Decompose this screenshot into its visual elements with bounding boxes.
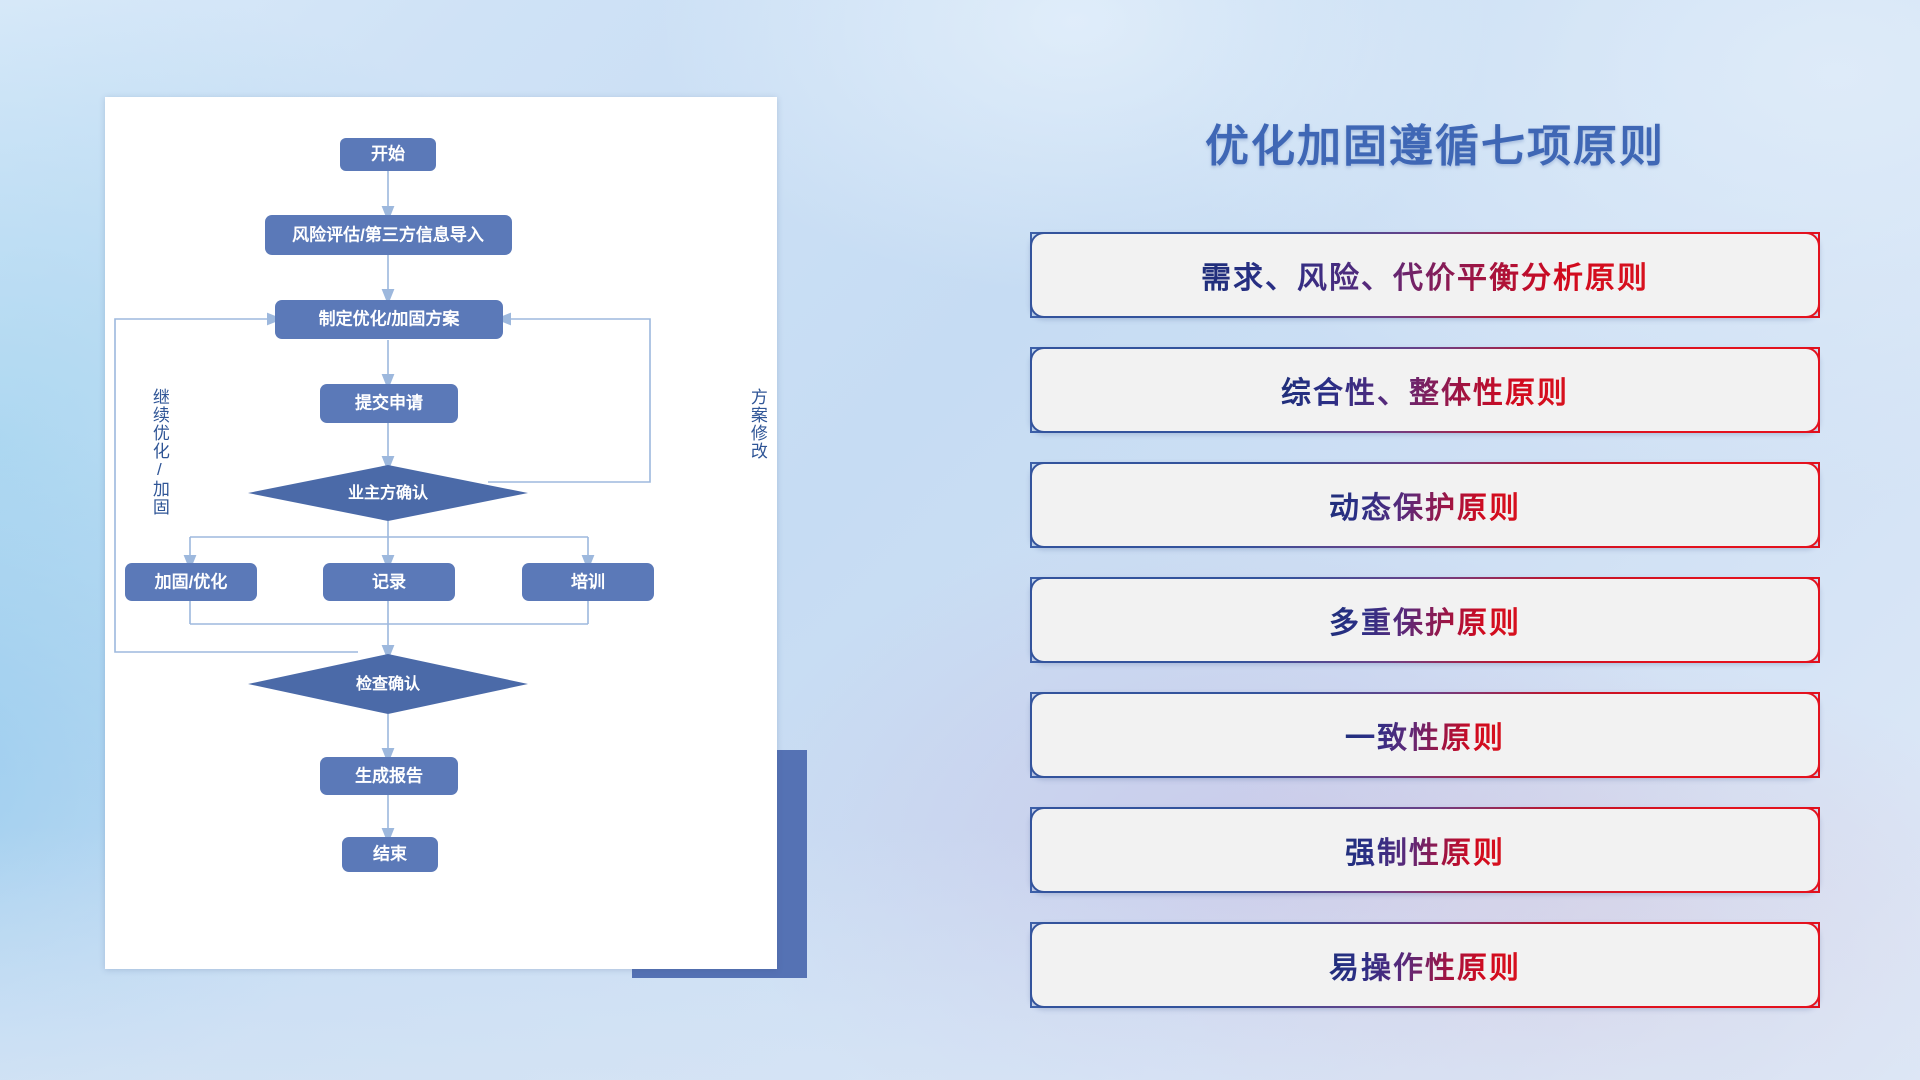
principle-card-label: 多重保护原则 — [1329, 598, 1521, 642]
flow-node-training-label: 培训 — [571, 571, 605, 591]
principle-card-label: 易操作性原则 — [1329, 943, 1521, 987]
principle-card-label: 一致性原则 — [1345, 713, 1505, 757]
principle-card-label: 需求、风险、代价平衡分析原则 — [1201, 253, 1649, 297]
flow-node-reinforce-optimize[interactable]: 加固/优化 — [125, 563, 257, 601]
flow-node-training[interactable]: 培训 — [522, 563, 654, 601]
principle-card[interactable]: 多重保护原则 — [1030, 577, 1820, 663]
principles-section: 优化加固遵循七项原则 需求、风险、代价平衡分析原则 综合性、整体性原则 动态保护… — [1020, 0, 1850, 1080]
principle-card-list: 需求、风险、代价平衡分析原则 综合性、整体性原则 动态保护原则 多重保护原则 一… — [1030, 232, 1820, 1037]
flowchart-diagram: 开始 风险评估/第三方信息导入 制定优化/加固方案 提交申请 业主方确认 加固/… — [105, 97, 777, 969]
flow-node-end[interactable]: 结束 — [342, 837, 438, 872]
flow-node-start-label: 开始 — [371, 143, 405, 163]
flow-node-inspection-confirm-label: 检查确认 — [356, 674, 421, 693]
flow-node-start[interactable]: 开始 — [340, 138, 436, 171]
principle-card[interactable]: 动态保护原则 — [1030, 462, 1820, 548]
flow-node-submit-application[interactable]: 提交申请 — [320, 384, 458, 423]
flow-edge-label-right-loop: 方案修改 — [748, 388, 766, 460]
flow-node-owner-confirm-label: 业主方确认 — [348, 483, 429, 502]
flow-node-make-plan-label: 制定优化/加固方案 — [319, 308, 461, 328]
flow-node-end-label: 结束 — [373, 843, 407, 863]
principle-card-label: 强制性原则 — [1345, 828, 1505, 872]
flow-node-submit-application-label: 提交申请 — [355, 392, 423, 412]
principle-card[interactable]: 易操作性原则 — [1030, 922, 1820, 1008]
principle-card[interactable]: 需求、风险、代价平衡分析原则 — [1030, 232, 1820, 318]
flow-node-reinforce-optimize-label: 加固/优化 — [154, 571, 228, 591]
principle-card[interactable]: 强制性原则 — [1030, 807, 1820, 893]
flowchart-panel: 开始 风险评估/第三方信息导入 制定优化/加固方案 提交申请 业主方确认 加固/… — [105, 97, 777, 969]
principle-card[interactable]: 综合性、整体性原则 — [1030, 347, 1820, 433]
flow-node-inspection-confirm[interactable]: 检查确认 — [248, 654, 528, 714]
flow-node-record-label: 记录 — [372, 572, 406, 591]
flow-node-generate-report-label: 生成报告 — [355, 765, 423, 785]
flow-node-risk-assessment-label: 风险评估/第三方信息导入 — [292, 224, 484, 244]
principle-card-label: 动态保护原则 — [1329, 483, 1521, 527]
flow-node-record[interactable]: 记录 — [323, 563, 455, 601]
flow-node-risk-assessment[interactable]: 风险评估/第三方信息导入 — [265, 215, 512, 255]
flow-node-generate-report[interactable]: 生成报告 — [320, 757, 458, 795]
flow-edge-label-left-loop: 继续优化/加固 — [150, 388, 168, 516]
flow-node-make-plan[interactable]: 制定优化/加固方案 — [275, 300, 503, 339]
principle-card[interactable]: 一致性原则 — [1030, 692, 1820, 778]
page-title: 优化加固遵循七项原则 — [1020, 110, 1850, 174]
flow-node-owner-confirm[interactable]: 业主方确认 — [248, 465, 528, 521]
principle-card-label: 综合性、整体性原则 — [1281, 368, 1569, 412]
